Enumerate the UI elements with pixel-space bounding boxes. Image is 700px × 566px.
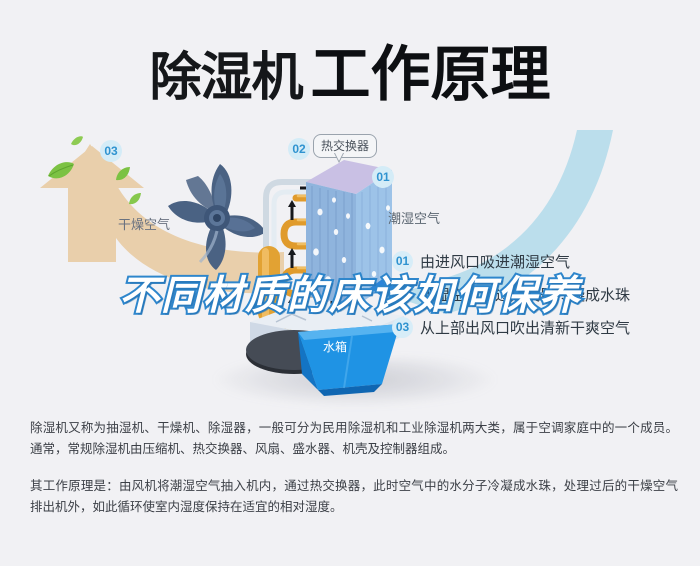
page-title: 除湿机工作原理: [0, 26, 700, 113]
heat-exchanger-callout: 热交换器: [313, 134, 377, 158]
overlay-watermark-text: 不同材质的床该如何保养: [0, 263, 700, 321]
paragraph-1: 除湿机又称为抽湿机、干燥机、除湿器，一般可分为民用除湿机和工业除湿机两大类，属于…: [30, 418, 678, 460]
infographic-page: 除湿机工作原理: [0, 0, 700, 566]
body-copy: 除湿机又称为抽湿机、干燥机、除湿器，一般可分为民用除湿机和工业除湿机两大类，属于…: [30, 418, 678, 534]
leaf-icon: [46, 160, 76, 182]
leaf-icon: [70, 135, 84, 147]
leaf-icon: [115, 166, 131, 182]
page-title-part1: 除湿机: [149, 49, 302, 107]
paragraph-2: 其工作原理是：由风机将潮湿空气抽入机内，通过热交换器，此时空气中的水分子冷凝成水…: [30, 476, 678, 518]
page-title-part2: 工作原理: [311, 41, 551, 108]
illustration-badge-03: 03: [100, 140, 122, 162]
label-dry-air: 干燥空气: [118, 214, 170, 233]
illustration-badge-02: 02: [288, 138, 310, 160]
label-humid-air: 潮湿空气: [388, 208, 440, 227]
label-water-tank: 水箱: [323, 338, 347, 355]
leaf-icon: [128, 192, 142, 206]
illustration-badge-01: 01: [372, 166, 394, 188]
heat-exchanger-callout-tail: [334, 153, 344, 163]
